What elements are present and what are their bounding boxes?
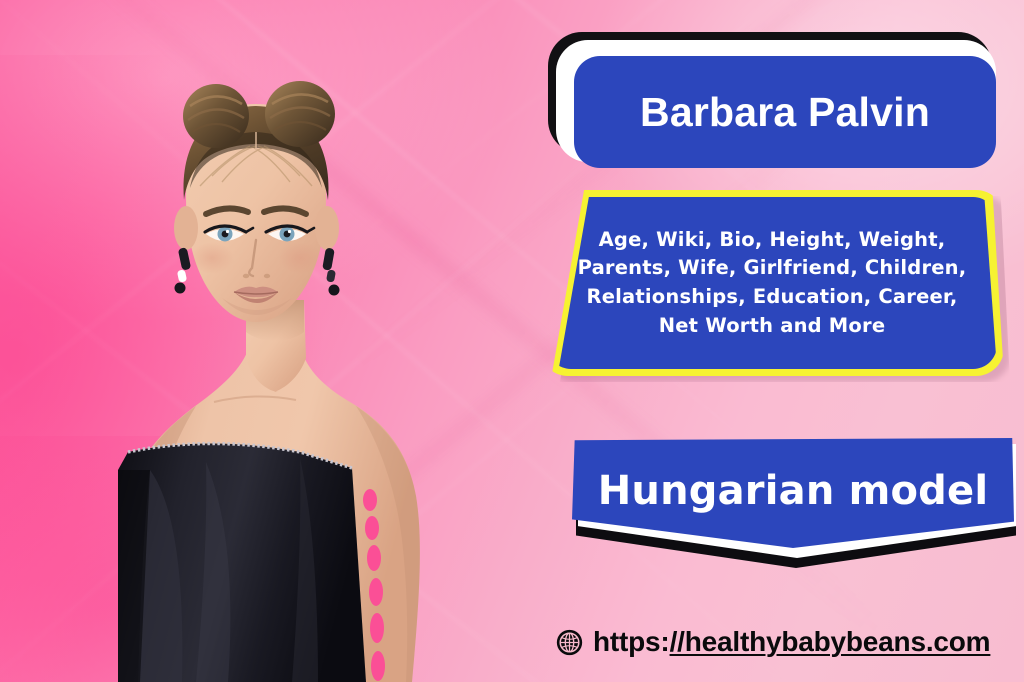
subtitle-badge: Age, Wiki, Bio, Height, Weight, Parents,… [540, 190, 1010, 382]
subtitle-badge-fill: Age, Wiki, Bio, Height, Weight, Parents,… [547, 197, 997, 369]
subtitle-line-3: Relationships, Education, Career, [587, 285, 958, 308]
subtitle-line-2: Parents, Wife, Girlfriend, Children, [578, 256, 967, 279]
subject-ear-left [174, 206, 198, 250]
url-prefix: https: [593, 626, 670, 657]
title-badge-fill: Barbara Palvin [574, 56, 996, 168]
subject-hair-bun-right [265, 81, 335, 147]
page-title: Barbara Palvin [640, 92, 930, 133]
info-panel: Barbara Palvin Age, Wiki, Bio, Height, W… [520, 0, 1024, 682]
subject-photo [0, 0, 470, 682]
subtitle-text: Age, Wiki, Bio, Height, Weight, Parents,… [565, 226, 979, 341]
subtitle-line-4: Net Worth and More [659, 314, 886, 337]
subject-earring-right [322, 247, 339, 295]
role-badge: Hungarian model [566, 438, 1018, 570]
subtitle-line-1: Age, Wiki, Bio, Height, Weight, [599, 228, 946, 251]
url-path: //healthybabybeans.com [670, 626, 991, 657]
subject-earring-left [175, 247, 192, 293]
role-label: Hungarian model [598, 468, 989, 514]
subject-ear-right [315, 206, 339, 250]
subject-photo-illustration [0, 0, 470, 682]
website-url[interactable]: https://healthybabybeans.com [556, 626, 990, 658]
globe-icon [556, 629, 583, 656]
title-badge: Barbara Palvin [536, 32, 1006, 172]
website-url-text[interactable]: https://healthybabybeans.com [593, 626, 990, 658]
subject-hair-bun-left [183, 84, 249, 148]
